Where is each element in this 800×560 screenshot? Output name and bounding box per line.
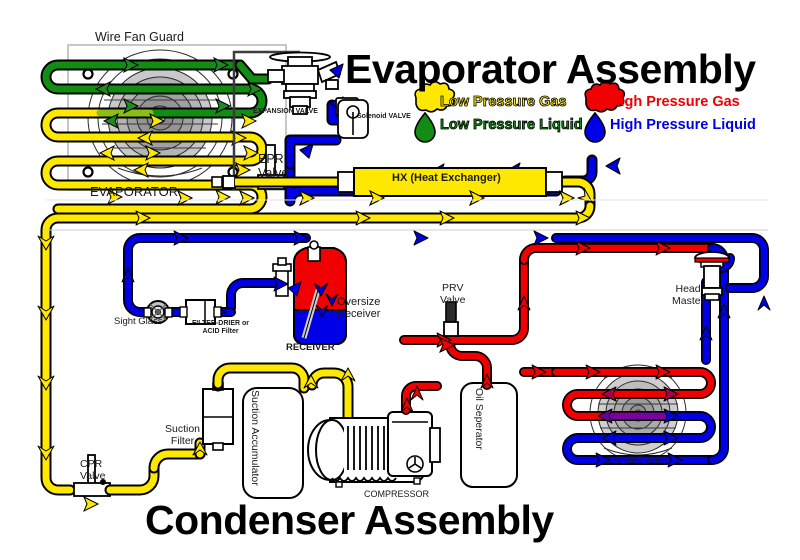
label-prv-valve: PRV Valve [440,283,466,307]
label-compressor: COMPRESSOR [364,489,429,499]
label-evaporator: EVAPORATOR [90,185,178,200]
label-prv-valve-line1: PRV [440,283,466,295]
label-sight-glass: Sight Glass [114,317,163,328]
page-title-evaporator-assembly: Evaporator Assembly [345,46,756,93]
label-wire-fan-guard: Wire Fan Guard [95,30,184,44]
legend-label-high-pressure-liquid: High Pressure Liquid [610,117,756,133]
label-filter-drier-line2: ACID Filter [192,328,249,336]
label-head-master-line2: Master [672,296,704,308]
label-epr-valve-line2: Valve [258,166,288,180]
label-suction-filter-line2: Filter [165,436,200,448]
compressor [308,412,440,487]
label-expansion-valve: EXPANSION VALVE [253,108,318,116]
label-cpr-valve-line2: Valve [80,471,106,483]
label-epr-valve-line1: EPR [258,152,288,166]
suction-filter [203,383,233,450]
label-solenoid-valve: Solenoid VALVE [357,113,411,121]
page-title-condenser-assembly: Condenser Assembly [145,497,554,544]
suction-line-to-filter [110,442,207,490]
suction-line-filter-to-accumulator [218,368,304,388]
label-cpr-valve: CPR Valve [80,459,106,483]
legend-label-high-pressure-gas: High Pressure Gas [610,94,740,110]
label-prv-valve-line2: Valve [440,295,466,307]
label-oversize-receiver-line1: Oversize [337,296,380,308]
discharge-line-to-oil-separator [401,386,437,412]
label-receiver: RECEIVER [286,343,335,354]
receiver-service-valve-top[interactable] [308,241,320,261]
label-cpr-valve-line1: CPR [80,459,106,471]
label-filter-drier: FILTER-DRIER or ACID Filter [192,320,249,336]
refrigeration-system-diagram: Evaporator Assembly Condenser Assembly L… [0,0,800,560]
oil-separator [461,383,517,487]
label-condenser: CONDENSER [608,456,669,467]
label-heat-exchanger: HX (Heat Exchanger) [392,172,501,184]
legend-label-low-pressure-liquid: Low Pressure Liquid [440,117,583,133]
label-head-master: Head Master [672,284,704,308]
label-suction-accumulator: Suction Accumulator [248,390,260,486]
label-suction-filter: Suction Filter [165,424,200,448]
label-oversize-receiver: Oversize Receiver [337,296,380,321]
label-suction-filter-line1: Suction [165,424,200,436]
label-epr-valve: EPR Valve [258,152,288,180]
legend-label-low-pressure-gas: Low Pressure Gas [440,94,567,110]
label-head-master-line1: Head [672,284,704,296]
label-oversize-receiver-line2: Receiver [337,308,380,320]
label-filter-drier-line1: FILTER-DRIER or [192,320,249,328]
label-oil-separator: Oil Seperator [472,388,484,450]
expansion-valve-outlet-line [240,65,268,79]
